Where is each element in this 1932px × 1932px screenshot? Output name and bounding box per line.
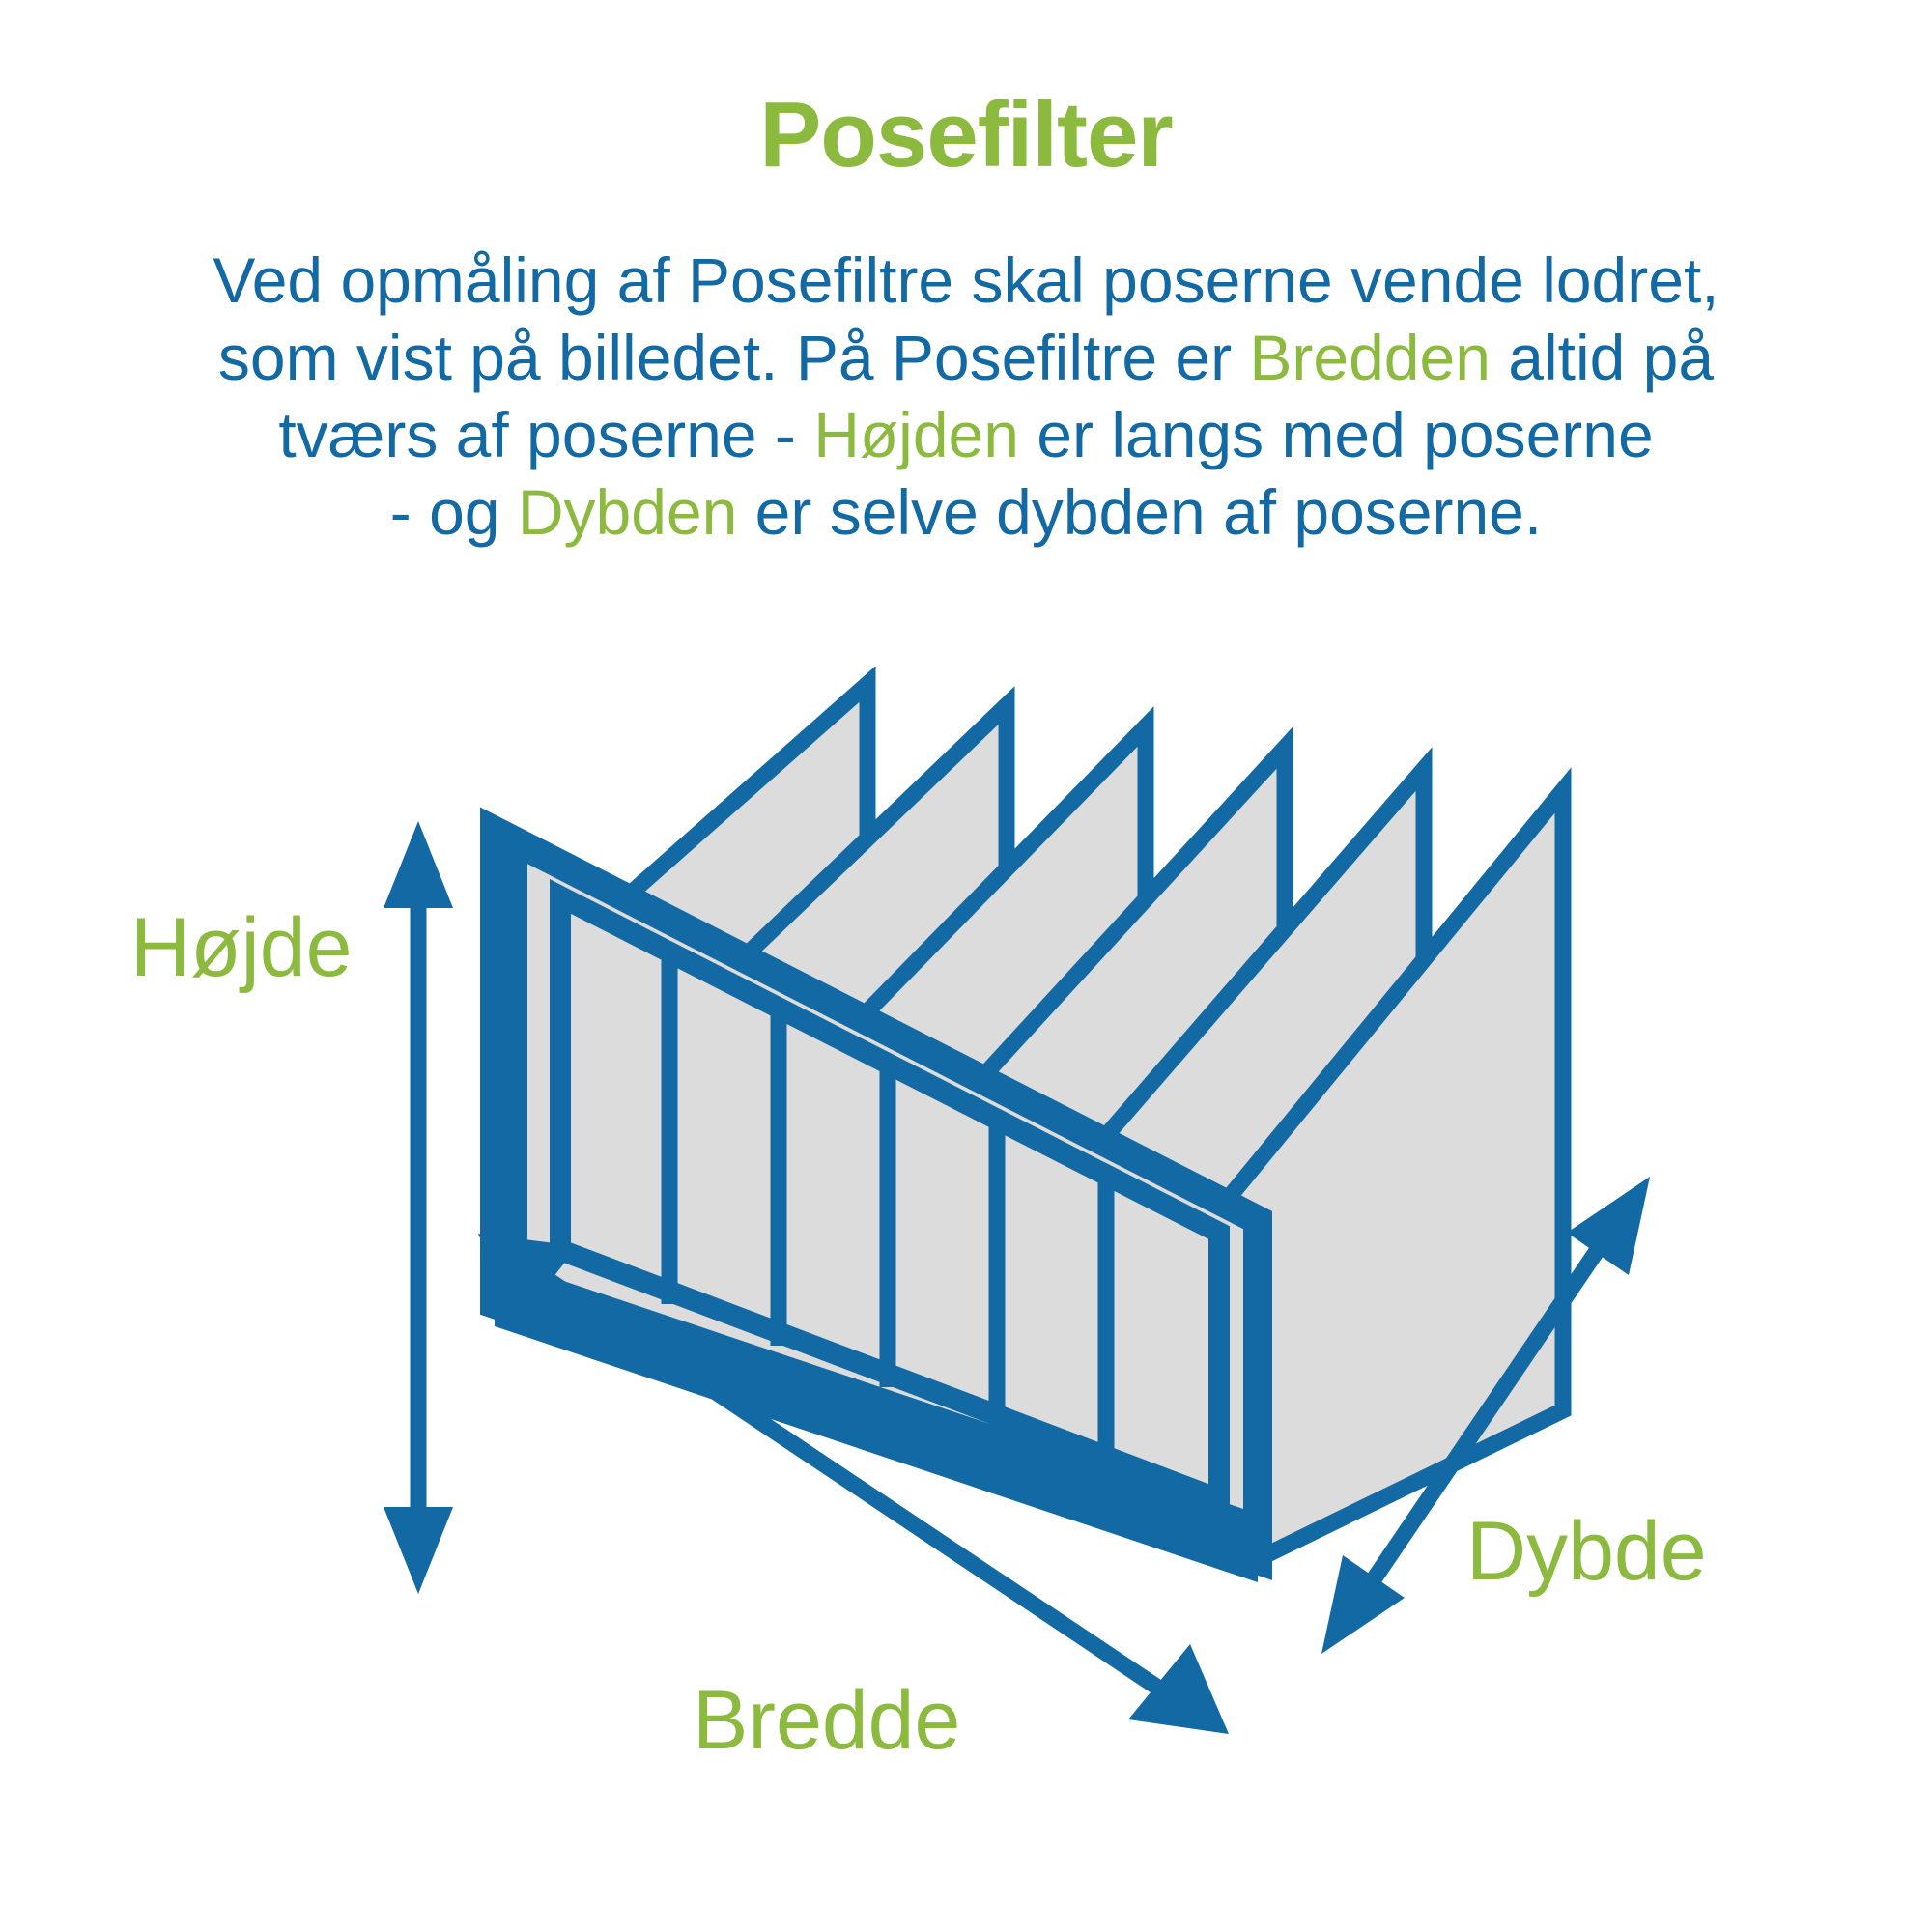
header-block: Posefilter Ved opmåling af Posefiltre sk… [0, 0, 1932, 551]
paragraph-line-2: som vist på billedet. På Posefiltre er B… [97, 319, 1835, 396]
text-segment: som vist på billedet. På Posefiltre er [218, 322, 1249, 393]
text-segment: er selve dybden af poserne. [737, 476, 1542, 548]
width-label: Bredde [693, 1674, 960, 1767]
text-segment: er langs med poserne [1019, 399, 1654, 470]
height-dimension-arrow [384, 821, 453, 1594]
pocket-filter-illustration: .blu { fill: #1369A3; } .gry { fill: #DC… [0, 667, 1932, 1932]
page-title: Posefilter [0, 0, 1932, 182]
height-label: Højde [130, 901, 352, 994]
depth-label: Dybde [1466, 1505, 1707, 1598]
paragraph-line-4: - og Dybden er selve dybden af poserne. [97, 473, 1835, 551]
page-root: Posefilter Ved opmåling af Posefiltre sk… [0, 0, 1932, 1932]
text-segment-highlight-hojden: Højden [813, 399, 1019, 470]
intro-paragraph: Ved opmåling af Posefiltre skal poserne … [97, 182, 1835, 551]
text-segment: altid på [1491, 322, 1714, 393]
filter-diagram: .blu { fill: #1369A3; } .gry { fill: #DC… [0, 667, 1932, 1932]
text-segment-highlight-dybden: Dybden [518, 476, 738, 548]
text-segment: - og [390, 476, 518, 548]
text-segment: tværs af poserne - [278, 399, 813, 470]
text-segment: Ved opmåling af Posefiltre skal poserne … [213, 244, 1719, 316]
paragraph-line-1: Ved opmåling af Posefiltre skal poserne … [97, 241, 1835, 319]
paragraph-line-3: tværs af poserne - Højden er langs med p… [97, 396, 1835, 473]
text-segment-highlight-bredden: Bredden [1249, 322, 1491, 393]
